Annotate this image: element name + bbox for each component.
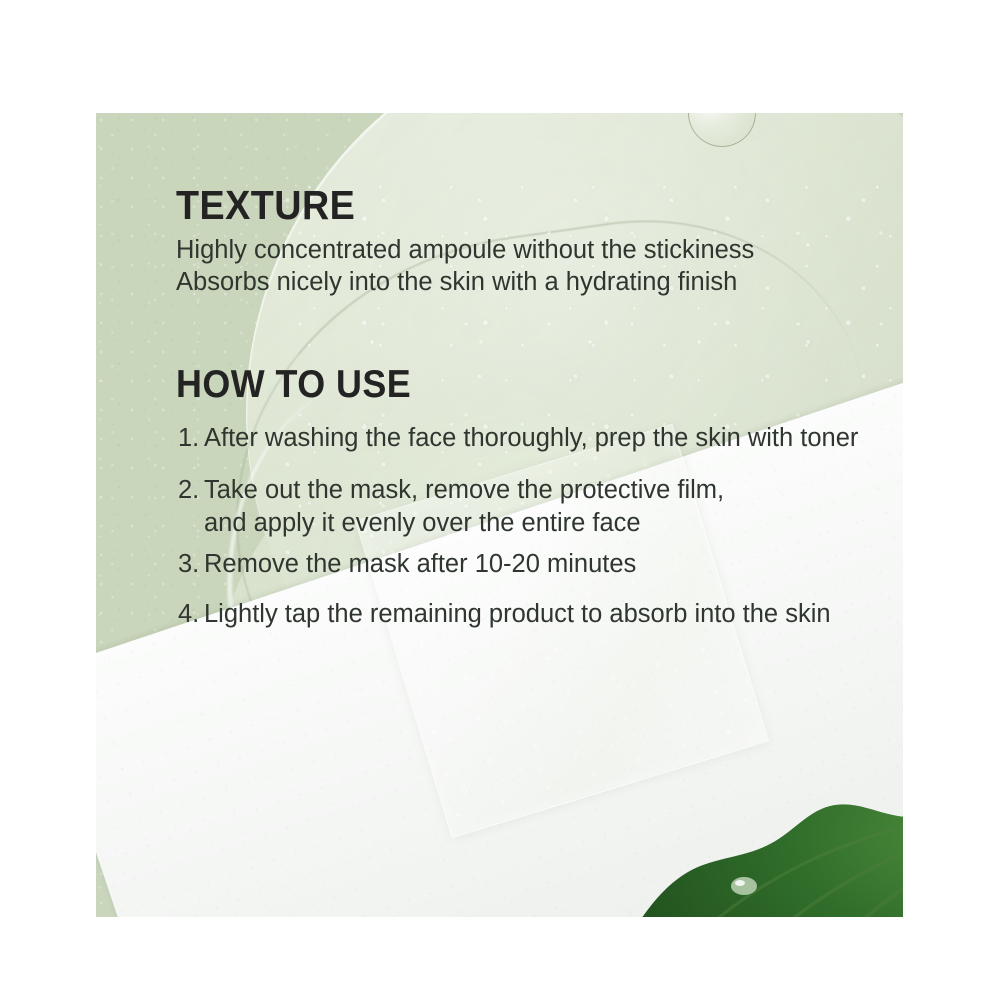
step-2-text: Take out the mask, remove the protective… [204,476,724,504]
how-to-use-step-2: 2.Take out the mask, remove the protecti… [178,474,724,540]
texture-line-1: Highly concentrated ampoule without the … [176,234,754,267]
how-to-use-step-1: 1.After washing the face thoroughly, pre… [178,422,858,455]
how-to-use-heading: HOW TO USE [176,363,411,407]
step-2-continuation: and apply it evenly over the entire face [178,507,724,540]
step-1-number: 1. [178,422,204,455]
step-4-number: 4. [178,598,204,631]
step-1-text: After washing the face thoroughly, prep … [204,424,858,452]
image-canvas: TEXTURE Highly concentrated ampoule with… [0,0,1000,1000]
how-to-use-step-3: 3.Remove the mask after 10-20 minutes [178,548,636,581]
step-3-number: 3. [178,548,204,581]
step-3-text: Remove the mask after 10-20 minutes [204,550,636,578]
copy-layer: TEXTURE Highly concentrated ampoule with… [0,0,1000,1000]
step-4-text: Lightly tap the remaining product to abs… [204,600,831,628]
step-2-number: 2. [178,474,204,507]
texture-line-2: Absorbs nicely into the skin with a hydr… [176,266,737,299]
texture-heading: TEXTURE [176,182,355,229]
how-to-use-step-4: 4.Lightly tap the remaining product to a… [178,598,831,631]
